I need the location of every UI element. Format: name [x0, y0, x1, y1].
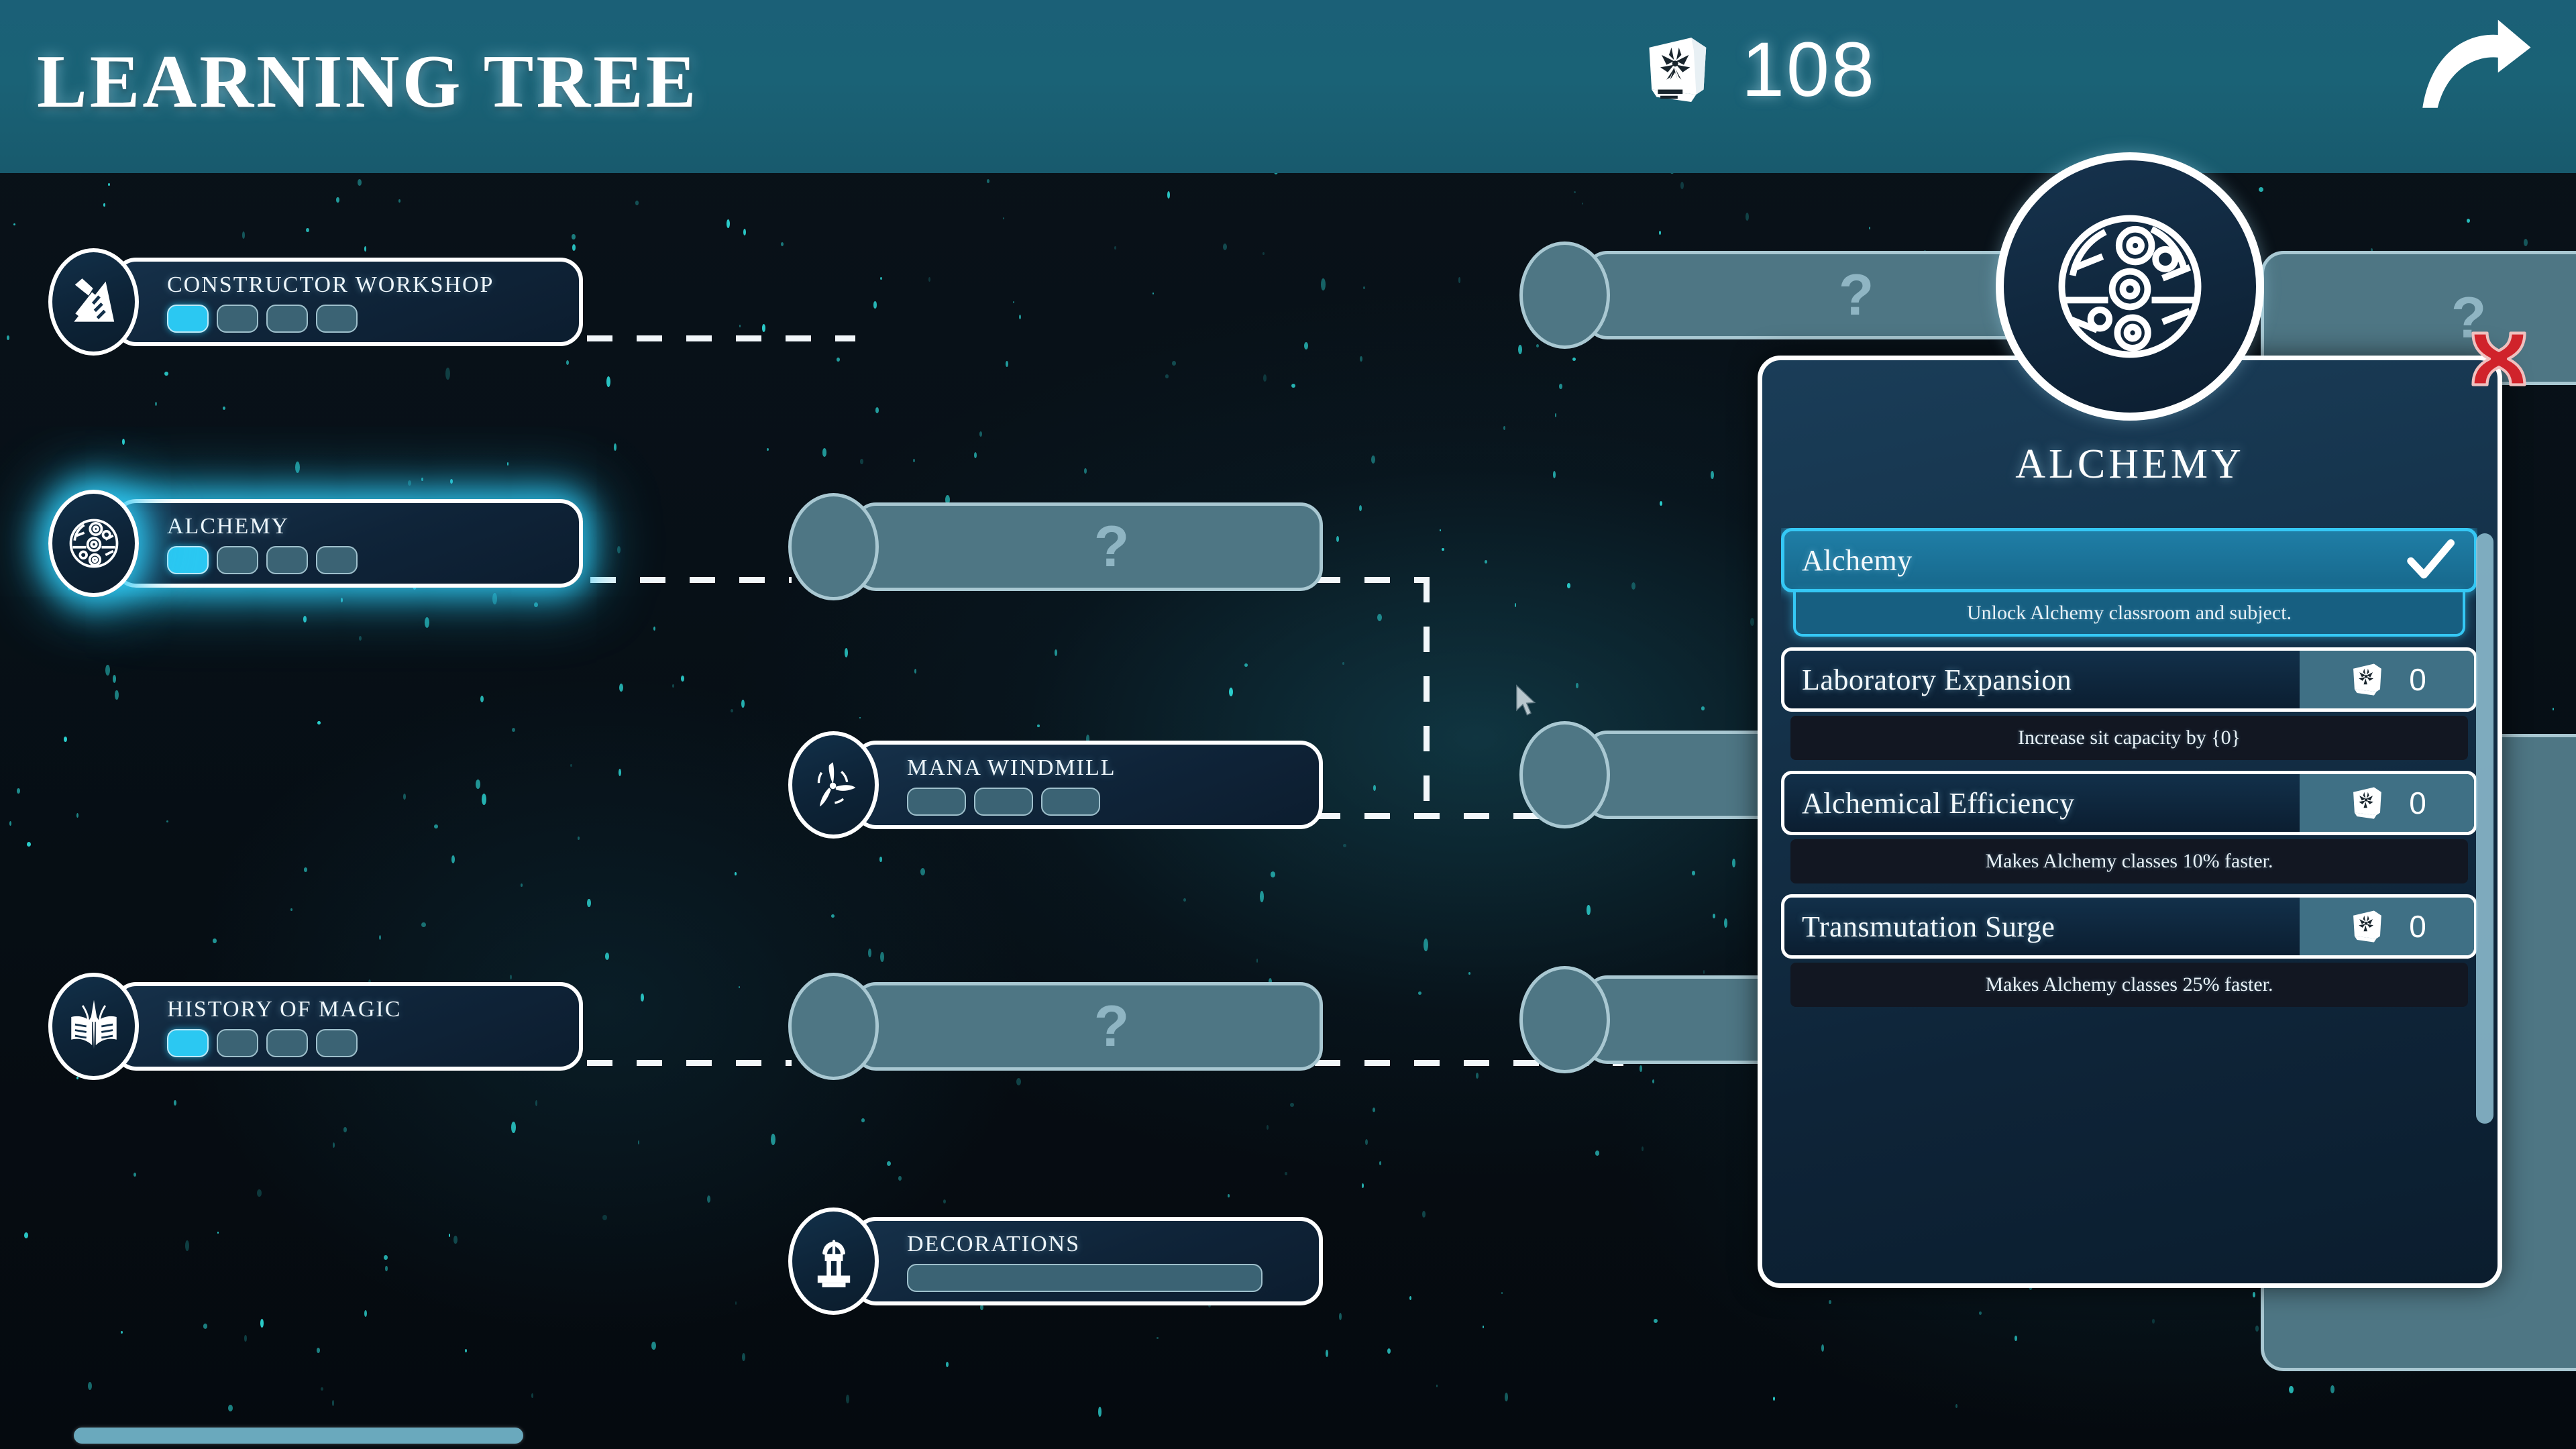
mana-windmill-bubble	[788, 731, 879, 839]
alchemy-bubble	[48, 490, 139, 597]
locked-node-body: ?	[853, 502, 1323, 591]
panel-alchemy-icon-circle	[1996, 152, 2264, 421]
skill-cost: 0	[2300, 774, 2474, 832]
tree-node-history-of-magic[interactable]: HISTORY OF MAGIC	[48, 973, 592, 1100]
spellbook-icon	[1637, 30, 1716, 109]
locked-node-bubble	[1519, 966, 1610, 1073]
tree-node-mana-windmill[interactable]: MANA WINDMILL	[788, 731, 1318, 859]
locked-node-bubble	[788, 493, 879, 600]
panel-scrollbar-thumb[interactable]	[2476, 533, 2493, 1124]
alchemy-circle-icon	[2043, 199, 2217, 374]
skill-name: Alchemy	[1784, 531, 2404, 589]
skill-description: Makes Alchemy classes 10% faster.	[1790, 839, 2468, 883]
close-button[interactable]	[2461, 321, 2536, 396]
pip-1	[167, 546, 209, 574]
skill-description: Makes Alchemy classes 25% faster.	[1790, 963, 2468, 1007]
locked-node-body: ?	[853, 982, 1323, 1071]
skill-detail-panel: ALCHEMY Alchemy Unlock Alchemy classroom…	[1758, 356, 2502, 1288]
constructor-workshop-body: CONSTRUCTOR WORKSHOP	[113, 258, 583, 346]
progress-pips	[167, 1029, 560, 1057]
pip-3	[1041, 788, 1100, 816]
progress-pips	[167, 305, 560, 333]
skill-cost-value: 0	[2409, 661, 2426, 698]
connector-locked1-right	[1315, 577, 1429, 583]
tree-node-decorations[interactable]: DECORATIONS	[788, 1207, 1318, 1335]
page-title: LEARNING TREE	[37, 39, 699, 125]
skill-row[interactable]: Transmutation Surge	[1781, 894, 2477, 959]
mana-windmill-body: MANA WINDMILL	[853, 741, 1323, 829]
skill-name: Laboratory Expansion	[1784, 651, 2300, 708]
locked-node-bubble	[1519, 241, 1610, 349]
tree-node-alchemy[interactable]: ALCHEMY	[48, 490, 592, 617]
open-book-star-icon	[64, 996, 124, 1057]
progress-pips	[907, 788, 1300, 816]
currency-value: 108	[1741, 25, 1876, 114]
decorations-bubble	[788, 1207, 879, 1315]
alchemy-body: ALCHEMY	[113, 499, 583, 588]
spellbook-icon	[2347, 907, 2386, 946]
skill-item-alchemy[interactable]: Alchemy Unlock Alchemy classroom and sub…	[1781, 528, 2477, 637]
skill-item-laboratory-expansion[interactable]: Laboratory Expansion	[1781, 647, 2477, 760]
pip-1	[167, 1029, 209, 1057]
spellbook-icon	[2347, 784, 2386, 822]
node-label: ALCHEMY	[167, 514, 560, 539]
decorations-body: DECORATIONS	[853, 1217, 1323, 1305]
hammer-ruler-icon	[65, 273, 123, 331]
locked-node-bubble	[788, 973, 879, 1080]
learning-tree-screen: ? ? ? ? ? ? ?	[0, 0, 2576, 1449]
wind-turbine-icon	[804, 755, 864, 815]
pip-2	[974, 788, 1033, 816]
curved-arrow-icon	[2412, 15, 2539, 115]
spellbook-icon	[2347, 660, 2386, 699]
question-mark-icon: ?	[1839, 266, 1874, 324]
skill-cost: 0	[2300, 898, 2474, 955]
tree-node-locked-row3-col1[interactable]: ?	[788, 973, 1318, 1100]
skill-list: Alchemy Unlock Alchemy classroom and sub…	[1781, 528, 2477, 1266]
skill-row[interactable]: Laboratory Expansion	[1781, 647, 2477, 712]
skill-cost-value: 0	[2409, 908, 2426, 945]
horizontal-scrollbar[interactable]	[0, 1422, 2576, 1449]
pip-2	[217, 1029, 258, 1057]
pip-2	[217, 305, 258, 333]
node-label: DECORATIONS	[907, 1232, 1300, 1257]
skill-row[interactable]: Alchemical Efficiency	[1781, 771, 2477, 835]
checkmark-icon	[2404, 534, 2457, 586]
connector-alchemy-to-locked	[590, 577, 792, 583]
mouse-cursor	[1515, 684, 1538, 719]
skill-cost: 0	[2300, 651, 2474, 708]
skill-description: Unlock Alchemy classroom and subject.	[1793, 592, 2465, 637]
pip-1	[907, 1264, 1263, 1292]
panel-title: ALCHEMY	[1762, 441, 2498, 488]
skill-row[interactable]: Alchemy	[1781, 528, 2477, 592]
pip-1	[907, 788, 966, 816]
skill-name: Alchemical Efficiency	[1784, 774, 2300, 832]
panel-scrollbar[interactable]	[2476, 533, 2493, 1124]
fountain-icon	[805, 1232, 863, 1290]
pip-2	[217, 546, 258, 574]
history-of-magic-bubble	[48, 973, 139, 1080]
history-of-magic-body: HISTORY OF MAGIC	[113, 982, 583, 1071]
node-label: HISTORY OF MAGIC	[167, 997, 560, 1022]
pip-1	[167, 305, 209, 333]
connector-workshop-to-locked	[587, 335, 855, 341]
skill-cost-value: 0	[2409, 785, 2426, 821]
connector-history-to-locked	[587, 1060, 792, 1066]
red-cross-icon	[2461, 321, 2536, 396]
skill-name: Transmutation Surge	[1784, 898, 2300, 955]
pip-4	[316, 305, 358, 333]
alchemy-circle-icon	[63, 513, 125, 574]
pip-3	[266, 546, 308, 574]
locked-node-bubble	[1519, 721, 1610, 828]
skill-item-transmutation-surge[interactable]: Transmutation Surge	[1781, 894, 2477, 1007]
back-button[interactable]	[2412, 15, 2539, 115]
progress-pips	[907, 1264, 1300, 1292]
node-label: CONSTRUCTOR WORKSHOP	[167, 272, 560, 298]
question-mark-icon: ?	[1094, 998, 1130, 1055]
tree-node-locked-row1-col2[interactable]: ?	[1519, 241, 2076, 369]
skill-description: Increase sit capacity by {0}	[1790, 716, 2468, 760]
pip-4	[316, 1029, 358, 1057]
pip-3	[266, 305, 308, 333]
question-mark-icon: ?	[1094, 518, 1130, 576]
currency-display: 108	[1637, 25, 1876, 114]
tree-node-constructor-workshop[interactable]: CONSTRUCTOR WORKSHOP	[48, 248, 592, 376]
pip-3	[266, 1029, 308, 1057]
node-label: MANA WINDMILL	[907, 755, 1300, 781]
constructor-workshop-bubble	[48, 248, 139, 356]
pip-4	[316, 546, 358, 574]
skill-item-alchemical-efficiency[interactable]: Alchemical Efficiency	[1781, 771, 2477, 883]
horizontal-scrollbar-thumb[interactable]	[74, 1428, 523, 1444]
tree-node-locked-row2-col1[interactable]: ?	[788, 493, 1318, 621]
progress-pips	[167, 546, 560, 574]
header-bar: LEARNING TREE	[0, 0, 2576, 173]
connector-locked1-down	[1424, 577, 1430, 815]
